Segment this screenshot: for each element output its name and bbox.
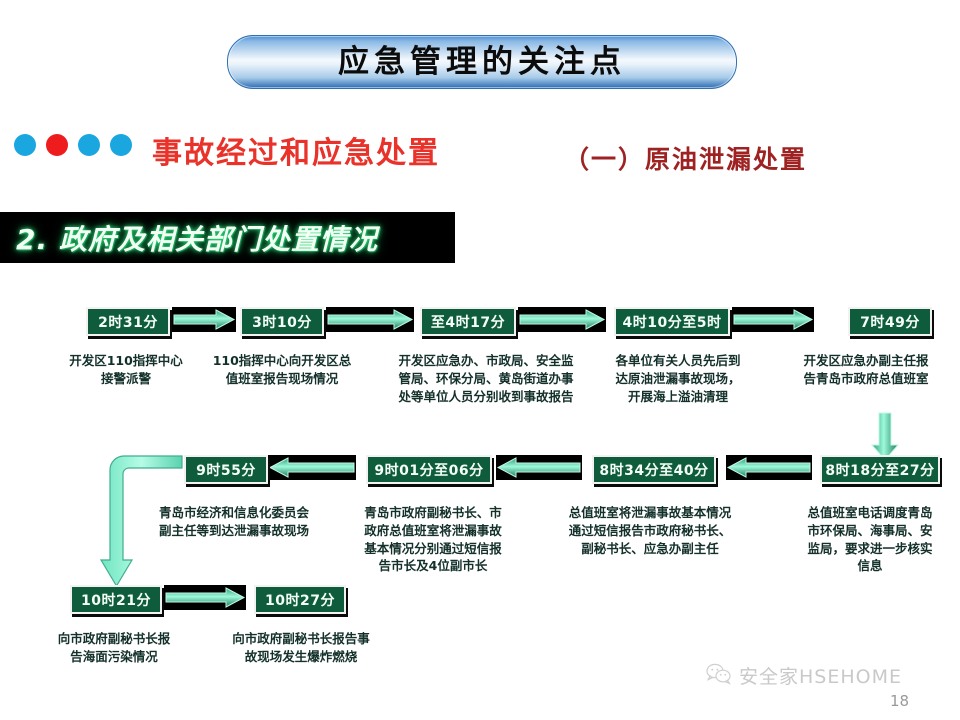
bullet-dot-3 [78,134,100,156]
flow-caption-r3-c1: 向市政府副秘书长报告海面污染情况 [30,630,198,666]
flow-caption-r1-c5: 开发区应急办副主任报告青岛市政府总值班室 [782,352,950,388]
bullet-dot-2 [46,134,68,156]
flow-arrow-r1-3 [518,307,606,332]
subtitle-left: 事故经过和应急处置 [152,128,440,172]
flow-box-r1-c1: 2时31分 [86,307,170,336]
flow-box-r2-c3: 8时34分至40分 [592,455,716,484]
flow-caption-r2-c3: 总值班室将泄漏事故基本情况通过短信报告市政府秘书长、副秘书长、应急办副主任 [540,504,760,557]
page-number: 18 [890,692,909,710]
flow-box-r1-c2: 3时10分 [240,307,324,336]
subtitle-right: （一）原油泄漏处置 [564,140,807,176]
flow-arrow-r3-1 [164,585,246,610]
watermark: 安全家HSEHOME [706,662,902,689]
flow-arrow-r2-3 [268,455,356,480]
flow-caption-r2-c2: 青岛市政府副秘书长、市政府总值班室将泄漏事故基本情况分别通过短信报告市长及4位副… [340,504,526,575]
flow-arrow-r1-2 [326,307,414,332]
section-band: 2. 政府及相关部门处置情况 [0,212,455,263]
flow-box-r1-c5: 7时49分 [848,307,932,336]
flow-caption-r3-c2: 向市政府副秘书长报告事故现场发生爆炸燃烧 [204,630,398,666]
slide-title-banner: 应急管理的关注点 [227,35,737,89]
bullet-dot-1 [14,134,36,156]
flow-box-r2-c1: 9时55分 [184,455,268,484]
wechat-icon [706,663,732,689]
flow-caption-r1-c2: 110指挥中心向开发区总值班室报告现场情况 [196,352,368,388]
bullet-dots [14,134,132,156]
watermark-label: 安全家HSEHOME [739,662,902,689]
flow-box-r1-c4: 4时10分至5时 [614,307,730,336]
flow-box-r1-c3: 至4时17分 [420,307,516,336]
flow-box-r2-c2: 9时01分至06分 [366,455,492,484]
flow-caption-r1-c4: 各单位有关人员先后到达原油泄漏事故现场，开展海上溢油清理 [598,352,758,405]
flow-arrow-r1-1 [172,307,236,332]
flow-box-r3-c2: 10时27分 [254,585,346,614]
flow-arrow-r2-1 [726,455,812,480]
flow-arrow-elbow-connector [98,452,184,590]
flow-caption-r1-c1: 开发区110指挥中心接警派警 [50,352,202,388]
flow-box-r3-c1: 10时21分 [70,585,162,614]
flow-box-r2-c4: 8时18分至27分 [820,455,940,484]
flow-arrow-r1-4 [732,307,814,332]
page-title: 应急管理的关注点 [338,47,626,78]
flow-arrow-r2-2 [496,455,582,480]
flow-caption-r2-c4: 总值班室电话调度青岛市环保局、海事局、安监局，要求进一步核实信息 [790,504,950,575]
slide: 应急管理的关注点 事故经过和应急处置 （一）原油泄漏处置 2. 政府及相关部门处… [0,0,960,720]
bullet-dot-4 [110,134,132,156]
flow-caption-r1-c3: 开发区应急办、市政局、安全监管局、环保分局、黄岛街道办事处等单位人员分别收到事故… [382,352,590,405]
section-band-label: 2. 政府及相关部门处置情况 [16,218,378,258]
